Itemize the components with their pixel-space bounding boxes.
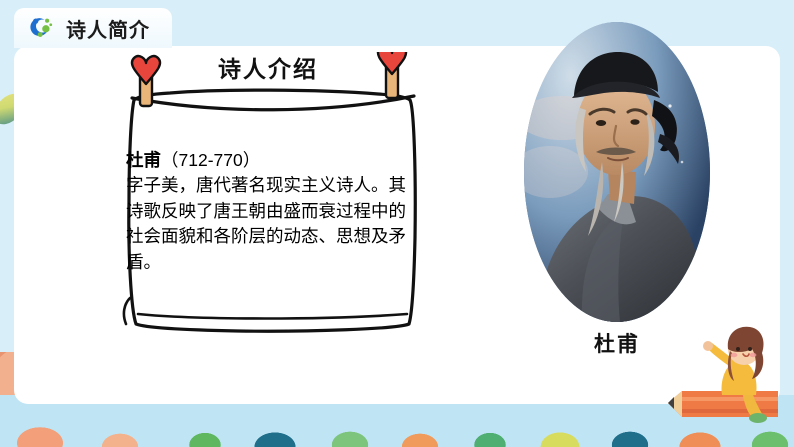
slide-root: 诗人简介 诗人介绍 杜甫（712-770）: [0, 0, 794, 447]
note-title: 诗人介绍: [78, 50, 458, 84]
poet-name-bold: 杜甫: [126, 150, 161, 170]
portrait-block: 杜甫: [524, 22, 710, 340]
poet-description: 字子美，唐代著名现实主义诗人。其诗歌反映了唐王朝由盛而衰过程中的社会面貌和各阶层…: [126, 175, 406, 271]
poet-years: （712-770）: [161, 150, 260, 170]
header-title: 诗人简介: [66, 14, 150, 43]
poet-intro-note: 诗人介绍 杜甫（712-770） 字子美，唐代著名现实主义诗人。其诗歌反映了唐王…: [78, 52, 458, 352]
girl-riding-pencil-icon: [660, 321, 790, 433]
du-fu-portrait-image: [524, 22, 710, 322]
brand-circle-logo-icon: [28, 15, 54, 41]
note-body-text: 杜甫（712-770） 字子美，唐代著名现实主义诗人。其诗歌反映了唐王朝由盛而衰…: [126, 148, 416, 275]
portrait-artwork: [524, 22, 710, 322]
header-tab[interactable]: 诗人简介: [14, 8, 172, 48]
